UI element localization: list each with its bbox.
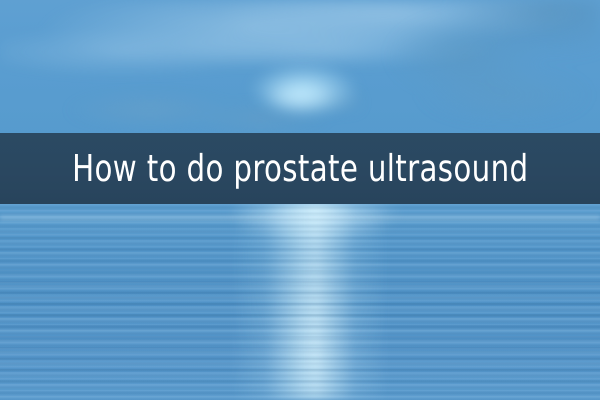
sun-glow bbox=[232, 34, 412, 139]
water-region bbox=[0, 204, 600, 400]
title-banner: How to do prostate ultrasound bbox=[0, 133, 600, 204]
article-title-image: How to do prostate ultrasound bbox=[0, 0, 600, 400]
page-title: How to do prostate ultrasound bbox=[72, 150, 528, 187]
water-ripples-coarse bbox=[0, 204, 600, 400]
